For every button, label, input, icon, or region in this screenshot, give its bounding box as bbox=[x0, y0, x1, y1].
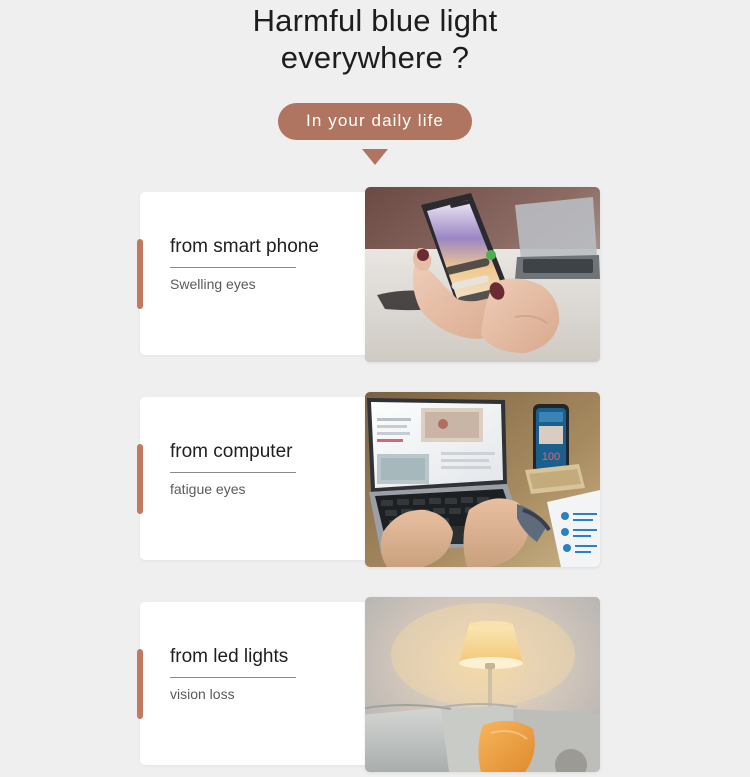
card-title: from computer bbox=[170, 440, 360, 464]
card-subtitle: Swelling eyes bbox=[170, 275, 360, 294]
svg-text:100: 100 bbox=[542, 451, 560, 463]
card-divider bbox=[170, 267, 296, 268]
accent-bar bbox=[137, 649, 143, 719]
card-text-block: from computer fatigue eyes bbox=[170, 440, 360, 499]
card-text-block: from smart phone Swelling eyes bbox=[170, 235, 360, 294]
card-subtitle: vision loss bbox=[170, 685, 360, 704]
list-item[interactable]: from computer fatigue eyes bbox=[0, 392, 750, 572]
triangle-down-icon bbox=[362, 149, 388, 165]
card-subtitle: fatigue eyes bbox=[170, 480, 360, 499]
list-item[interactable]: from smart phone Swelling eyes bbox=[0, 187, 750, 367]
card-title: from led lights bbox=[170, 645, 360, 669]
page-header: Harmful blue light everywhere ? bbox=[0, 0, 750, 76]
list-item[interactable]: from led lights vision loss bbox=[0, 597, 750, 777]
photo-hands-holding-smartphone bbox=[365, 187, 600, 362]
page-title: Harmful blue light everywhere ? bbox=[0, 2, 750, 76]
daily-life-badge: In your daily life bbox=[278, 103, 472, 140]
card-list: from smart phone Swelling eyes bbox=[0, 187, 750, 777]
accent-bar bbox=[137, 444, 143, 514]
badge-container: In your daily life bbox=[0, 103, 750, 140]
arrow-container bbox=[0, 149, 750, 165]
card-divider bbox=[170, 677, 296, 678]
page-title-line-2: everywhere ? bbox=[80, 39, 670, 76]
photo-hands-typing-laptop: 100 bbox=[365, 392, 600, 567]
page-title-line-1: Harmful blue light bbox=[80, 2, 670, 39]
card-text-block: from led lights vision loss bbox=[170, 645, 360, 704]
accent-bar bbox=[137, 239, 143, 309]
card-title: from smart phone bbox=[170, 235, 360, 259]
card-divider bbox=[170, 472, 296, 473]
photo-lit-lamp-living-room bbox=[365, 597, 600, 772]
